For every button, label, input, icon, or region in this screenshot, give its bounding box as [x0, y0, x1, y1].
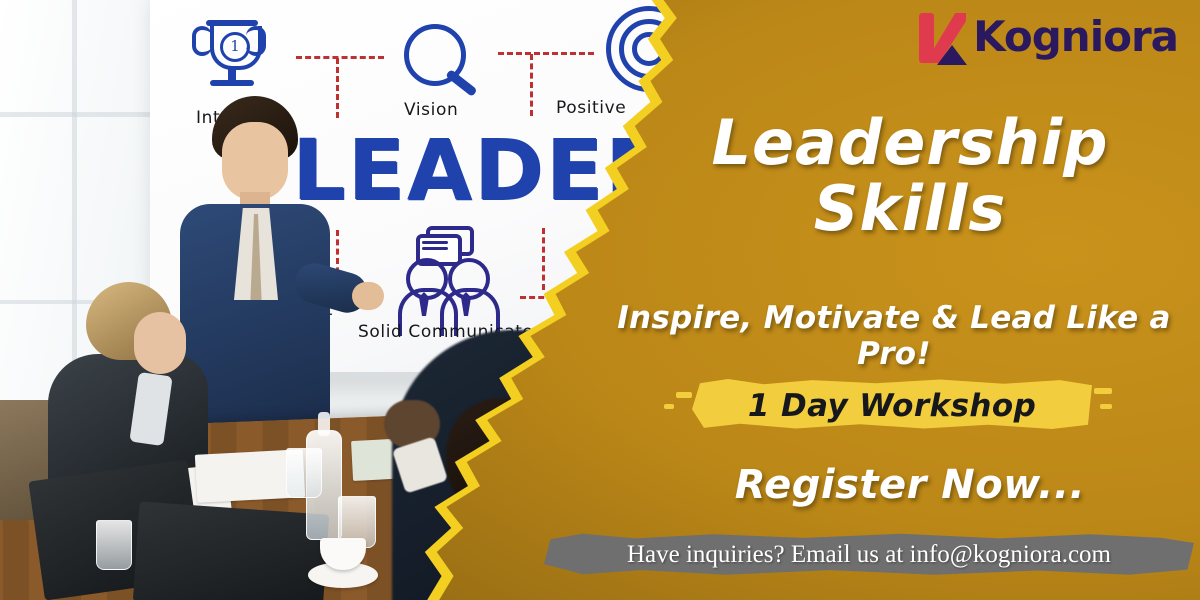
brush-fleck: [664, 404, 674, 409]
tagline: Inspire, Motivate & Lead Like a Pro!: [588, 300, 1200, 372]
water-glass: [96, 520, 132, 570]
magnifier-icon: [404, 24, 494, 94]
brand-logo[interactable]: Kogniora: [917, 6, 1178, 68]
trophy-icon: 1: [196, 20, 272, 90]
leadership-workshop-banner: 1 Integrity Vision Positive LEADER: [0, 0, 1200, 600]
brush-fleck: [1100, 404, 1112, 409]
workshop-badge-label: 1 Day Workshop: [692, 383, 1092, 429]
dashed-connector: [296, 56, 384, 59]
laptop-screen: [133, 501, 330, 600]
whiteboard-label-vision: Vision: [404, 100, 458, 120]
page-title: Leadership Skills: [620, 110, 1200, 241]
dashed-connector: [542, 228, 545, 290]
brush-fleck: [1094, 388, 1112, 394]
register-cta[interactable]: Register Now...: [620, 462, 1200, 508]
whiteboard-label-positive: Positive: [556, 98, 626, 118]
window-mullion: [0, 112, 160, 117]
title-line-1: Leadership: [711, 106, 1108, 179]
brush-fleck: [676, 392, 692, 398]
two-people-speech-icon: [398, 226, 490, 310]
contact-info[interactable]: Have inquiries? Email us at info@kognior…: [544, 537, 1194, 573]
kogniora-k-logo-icon: [917, 9, 971, 65]
title-line-2: Skills: [620, 176, 1200, 242]
dashed-connector: [530, 54, 533, 116]
dashed-connector: [498, 52, 594, 55]
brand-logo-text: Kogniora: [973, 16, 1178, 58]
water-glass: [286, 448, 322, 498]
